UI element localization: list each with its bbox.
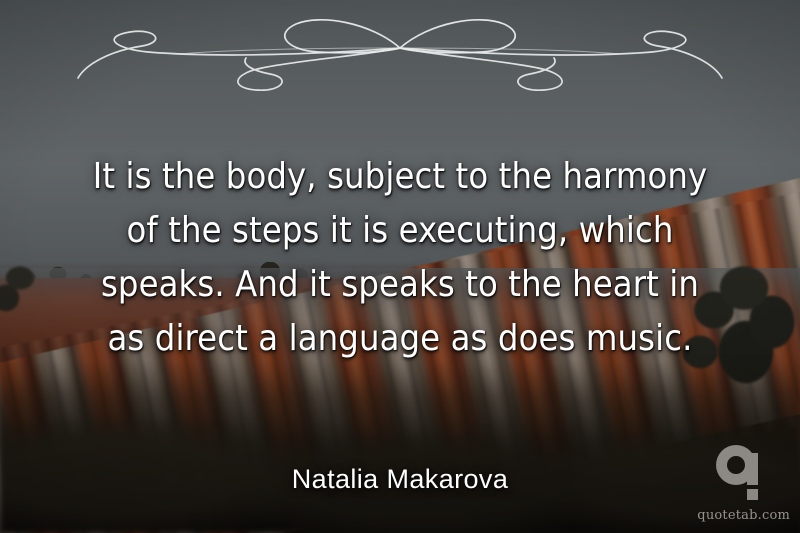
watermark-site-label[interactable]: quotetab.com	[680, 508, 790, 523]
calligraphic-flourish-icon	[70, 8, 730, 98]
quotetab-q-logo-icon[interactable]	[714, 443, 770, 501]
quote-text: It is the body, subject to the harmony o…	[50, 150, 750, 366]
quote-image-card: It is the body, subject to the harmony o…	[0, 0, 800, 533]
card-content: It is the body, subject to the harmony o…	[0, 0, 800, 533]
site-watermark[interactable]: quotetab.com	[680, 443, 790, 525]
